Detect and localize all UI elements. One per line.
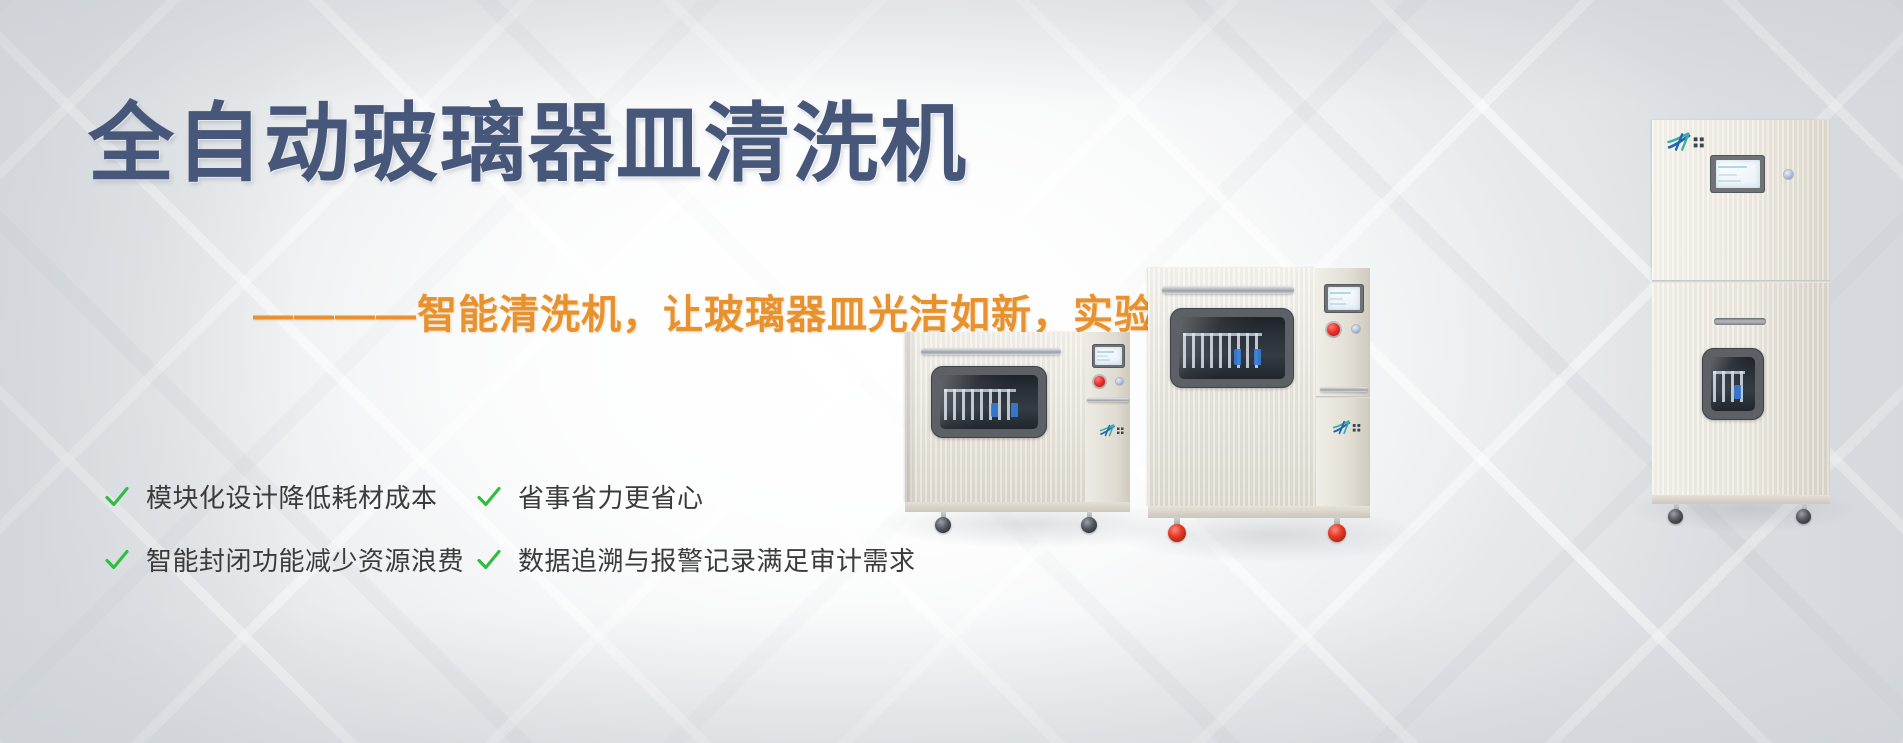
indicator-button[interactable] bbox=[1784, 170, 1793, 179]
door-handle[interactable] bbox=[921, 348, 1061, 355]
viewing-window bbox=[1170, 308, 1294, 388]
control-screen[interactable] bbox=[1324, 284, 1364, 313]
indicator-button[interactable] bbox=[1116, 378, 1123, 385]
drawer-handle[interactable] bbox=[1087, 398, 1129, 402]
panel-seam bbox=[1316, 396, 1370, 398]
glassware-load bbox=[1711, 357, 1755, 411]
glass-reflection bbox=[1711, 357, 1755, 411]
caster-wheel bbox=[1168, 524, 1186, 542]
cabinet-base bbox=[905, 502, 1130, 512]
caster-wheel bbox=[1328, 524, 1346, 542]
viewing-window bbox=[1702, 348, 1764, 420]
caster-wheel bbox=[1081, 517, 1097, 533]
indicator-button[interactable] bbox=[1352, 325, 1360, 333]
control-screen[interactable] bbox=[1710, 155, 1765, 193]
product-tall-cabinet-washer bbox=[1652, 120, 1830, 508]
viewing-window bbox=[931, 366, 1047, 438]
screen-ui-lines bbox=[1330, 290, 1359, 307]
glass-reflection bbox=[1179, 317, 1285, 379]
brand-logo-icon bbox=[1666, 132, 1706, 152]
glassware-load bbox=[1179, 317, 1285, 379]
glassware-load bbox=[940, 375, 1038, 429]
vent-slot bbox=[1714, 318, 1766, 325]
screen-ui-lines bbox=[1718, 163, 1758, 185]
drawer-handle[interactable] bbox=[1320, 387, 1368, 392]
caster-wheel bbox=[1668, 509, 1683, 524]
glass-reflection bbox=[940, 375, 1038, 429]
brand-logo-icon bbox=[1099, 424, 1125, 437]
brand-logo-icon bbox=[1332, 420, 1362, 435]
door-handle[interactable] bbox=[1162, 286, 1294, 294]
control-screen[interactable] bbox=[1092, 344, 1125, 368]
product-photo-group bbox=[0, 0, 1903, 743]
emergency-stop-button[interactable] bbox=[1327, 323, 1340, 336]
caster-wheel bbox=[935, 517, 951, 533]
product-benchtop-washer bbox=[905, 332, 1130, 524]
caster-wheel bbox=[1796, 509, 1811, 524]
screen-ui-lines bbox=[1097, 349, 1121, 363]
emergency-stop-button[interactable] bbox=[1094, 376, 1105, 387]
product-banner: 全自动玻璃器皿清洗机 ————智能清洗机，让玻璃器皿光洁如新，实验无忧！ 模块化… bbox=[0, 0, 1903, 743]
product-undercounter-washer bbox=[1148, 268, 1370, 528]
